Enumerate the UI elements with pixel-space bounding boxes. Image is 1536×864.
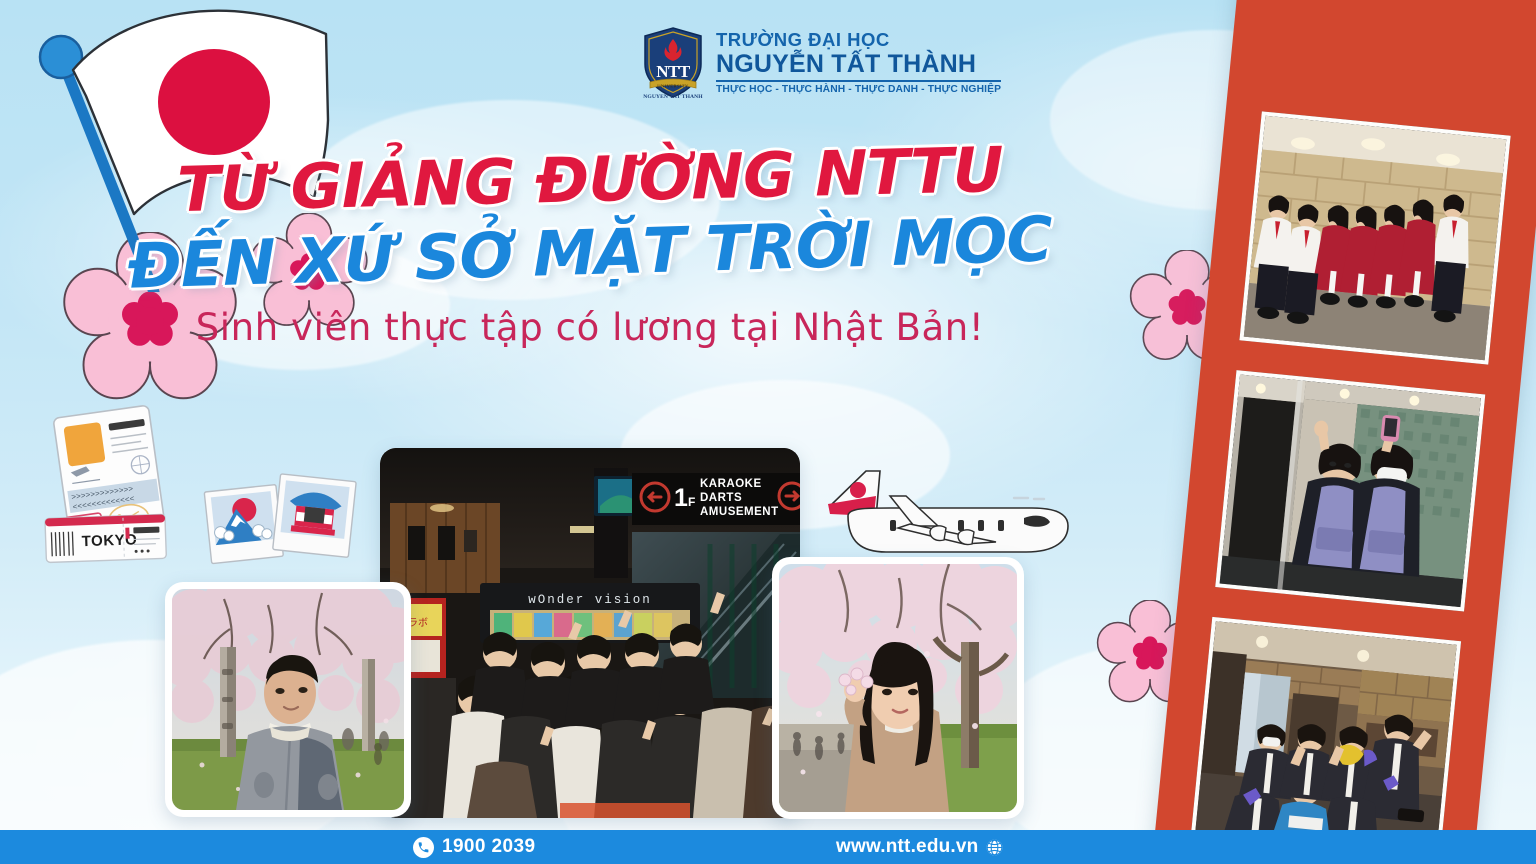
sign-text-karaoke: KARAOKE bbox=[700, 478, 762, 490]
ntt-shield-logo-icon: NTT UNIVERSITY NGUYEN TAT THANH bbox=[642, 26, 704, 100]
logo-divider bbox=[716, 80, 1001, 82]
logo-tagline: THỰC HỌC - THỰC HÀNH - THỰC DANH - THỰC … bbox=[716, 85, 1001, 95]
svg-text:UNIVERSITY: UNIVERSITY bbox=[657, 83, 689, 88]
svg-text:NGUYEN TAT THANH: NGUYEN TAT THANH bbox=[643, 94, 703, 100]
airplane-icon bbox=[818, 466, 1083, 566]
sign-text-darts: DARTS bbox=[700, 492, 742, 504]
photo-card-group-arcade[interactable]: 1 F KARAOKE DARTS AMUSEMENT bbox=[380, 448, 800, 818]
headline-subtitle: Sinh viên thực tập có lương tại Nhật Bản… bbox=[0, 306, 1180, 349]
sign-brand-label: wOnder vision bbox=[528, 593, 652, 607]
footer-website-block[interactable]: www.ntt.edu.vn bbox=[836, 836, 1004, 858]
footer-phone-number: 1900 2039 bbox=[442, 836, 535, 858]
poster-canvas: NTT UNIVERSITY NGUYEN TAT THANH TRƯỜNG Đ… bbox=[0, 0, 1536, 864]
sign-text-amusement: AMUSEMENT bbox=[700, 506, 779, 518]
photo-card-restaurant-staff[interactable] bbox=[1191, 617, 1461, 860]
sign-floor-label: 1 bbox=[674, 484, 688, 512]
footer-bar: 1900 2039 www.ntt.edu.vn bbox=[0, 830, 1536, 864]
headline-block: TỪ GIẢNG ĐƯỜNG NTTU ĐẾN XỨ SỞ MẶT TRỜI M… bbox=[0, 148, 1180, 349]
globe-icon bbox=[985, 838, 1004, 857]
photo-card-aodai-students[interactable] bbox=[1239, 111, 1510, 364]
phone-icon bbox=[413, 837, 434, 858]
photo-card-man-sakura[interactable] bbox=[165, 582, 411, 817]
mount-fuji-photo bbox=[204, 485, 283, 564]
university-logo-block: NTT UNIVERSITY NGUYEN TAT THANH TRƯỜNG Đ… bbox=[642, 26, 1001, 100]
polaroid-photos-icon bbox=[200, 468, 365, 573]
footer-phone-block[interactable]: 1900 2039 bbox=[413, 836, 535, 858]
svg-text:NTT: NTT bbox=[656, 62, 691, 81]
svg-text:F: F bbox=[688, 495, 695, 509]
logo-line-1: TRƯỜNG ĐẠI HỌC bbox=[716, 31, 1001, 50]
passport-and-boarding-pass-icon: >>>>>>>>>>>>> <<<<<<<<<<<<< TOKYO bbox=[38, 398, 203, 578]
footer-website-url: www.ntt.edu.vn bbox=[836, 836, 978, 858]
photo-card-woman-sakura[interactable] bbox=[772, 557, 1024, 819]
photo-card-apron-selfie[interactable] bbox=[1215, 370, 1485, 611]
japanese-temple-photo bbox=[273, 474, 357, 558]
logo-line-2: NGUYỄN TẤT THÀNH bbox=[716, 52, 1001, 77]
